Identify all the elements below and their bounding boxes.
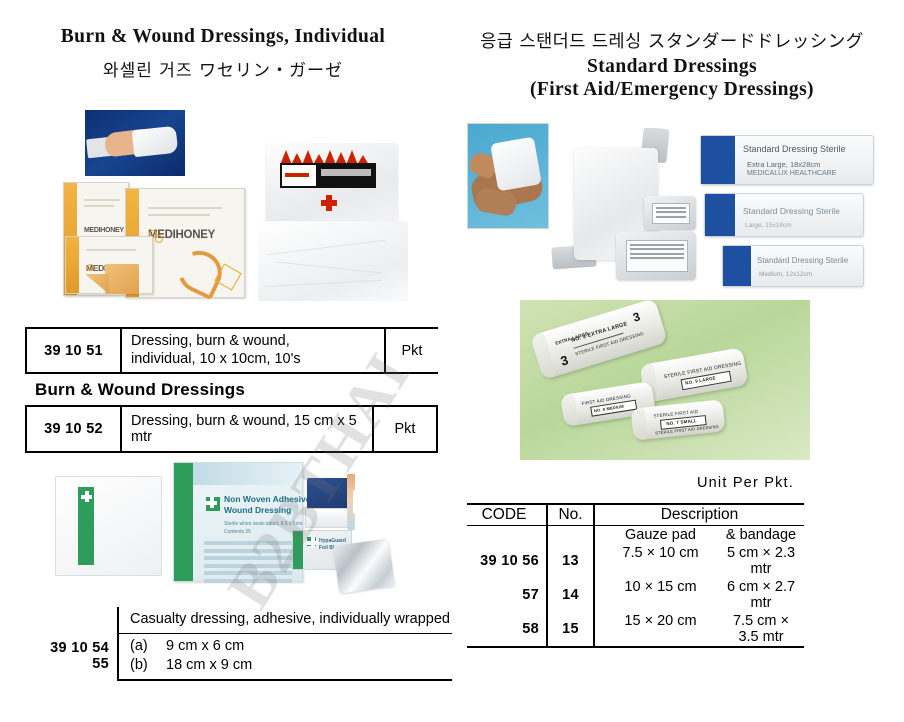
cell-no-empty	[547, 526, 594, 545]
burn-sheet-label	[280, 163, 376, 188]
table-row: 39 10 56 13 7.5 × 10 cm 5 cm × 2.3 mtr	[467, 544, 804, 578]
white-cross-icon	[731, 259, 743, 271]
code-primary: 39 10 54	[27, 640, 109, 656]
box-green-side	[174, 463, 193, 581]
green-cross-icon	[307, 537, 316, 546]
blue-box-base	[305, 508, 353, 528]
cell-bandage-size: 5 cm × 2.3 mtr	[722, 545, 800, 577]
cell-unit: Pkt	[373, 406, 437, 452]
section-band-burn-wound: Burn & Wound Dressings	[25, 375, 438, 404]
green-cross-icon	[81, 491, 92, 502]
dressing-pad	[353, 490, 355, 514]
adhesive-dressing-item	[347, 474, 355, 530]
left-table-primary: 39 10 51 Dressing, burn & wound, individ…	[25, 327, 438, 374]
cell-description: Dressing, burn & wound, individual, 10 x…	[121, 328, 385, 373]
box-green-side	[293, 531, 303, 569]
pack-title: Standard Dressing Sterile	[743, 144, 846, 154]
subheader-bandage: & bandage	[722, 527, 800, 543]
table-row: 39 10 51 Dressing, burn & wound, individ…	[26, 328, 438, 373]
first-aid-dressing-rolls-photo: 3 3 NO. 3 EXTRA LARGE EXTRA LARGE STERIL…	[520, 300, 810, 460]
right-column-title-secondary: (First Aid/Emergency Dressings)	[450, 79, 894, 101]
non-woven-title-line1: Non Woven Adhesive	[224, 495, 316, 505]
description-line-1: Dressing, burn & wound,	[131, 333, 384, 351]
sachet-large	[616, 232, 696, 280]
gauze-shape	[132, 126, 179, 157]
catalog-page: Burn & Wound Dressings, Individual 와셀린 거…	[0, 0, 904, 722]
cell-gauze-pad-size: 10 × 15 cm	[599, 579, 722, 611]
cell-description: 15 × 20 cm 7.5 cm × 3.5 mtr	[594, 612, 804, 647]
box-top-face	[174, 463, 302, 485]
pack-brand: MEDICALUX HEALTHCARE	[747, 170, 836, 177]
label-white-block	[282, 165, 316, 186]
section-band-label: Burn & Wound Dressings	[35, 380, 245, 400]
pack-title: Standard Dressing Sterile	[757, 256, 848, 265]
variant-row-a: (a)9 cm x 6 cm	[130, 637, 452, 657]
cell-bandage-size: 6 cm × 2.7 mtr	[722, 579, 800, 611]
table-header-row: CODE No. Description	[467, 504, 804, 526]
sachet-window	[652, 203, 690, 224]
header-code: CODE	[467, 504, 547, 526]
header-no: No.	[547, 504, 594, 526]
roll-end-cap	[631, 407, 648, 440]
non-woven-box: Non Woven Adhesive Wound Dressing Steril…	[173, 462, 303, 582]
roll-end-cap	[530, 332, 557, 380]
standard-dressing-pad-photo	[546, 128, 698, 298]
cell-header-description: Casualty dressing, adhesive, individuall…	[118, 607, 452, 633]
flat-dressing-pack	[55, 476, 162, 576]
description-line-2: individual, 10 x 10cm, 10's	[131, 351, 384, 369]
bandaged-leg-photo	[467, 123, 549, 229]
cell-no: 15	[547, 612, 594, 647]
pack-size: Large, 15x18cm	[745, 222, 792, 229]
burn-sheet-folded	[258, 221, 408, 301]
sterile-pack-medium: Standard Dressing Sterile Medium, 12x12c…	[722, 245, 864, 287]
hypaguard-foil-blanket-photo: HypaGuard Foil Blanket	[292, 528, 412, 598]
cell-no: 14	[547, 578, 594, 612]
right-column-title: Standard Dressings	[450, 56, 894, 78]
cell-code: 57	[467, 578, 547, 612]
roll-end-cap	[560, 393, 579, 427]
pack-size: Medium, 12x12cm	[759, 271, 812, 278]
cell-no: 13	[547, 544, 594, 578]
unit-per-packet-note: Unit Per Pkt.	[697, 475, 794, 491]
table-header-row: Casualty dressing, adhesive, individuall…	[25, 607, 452, 633]
cell-description: 10 × 15 cm 6 cm × 2.7 mtr	[594, 578, 804, 612]
cell-code-empty	[25, 607, 118, 633]
table-row: 39 10 52 Dressing, burn & wound, 15 cm x…	[26, 406, 437, 452]
cell-description: Dressing, burn & wound, 15 cm x 5 mtr	[121, 406, 373, 452]
feature-bullet-list	[204, 541, 292, 586]
right-column-subtitle-cjk: 응급 스탠더드 드레싱 スタンダードドレッシング	[450, 28, 894, 53]
table-subheader-row: Gauze pad & bandage	[467, 526, 804, 545]
cell-unit: Pkt	[385, 328, 438, 373]
pack-size: Extra Large, 18x28cm	[747, 160, 820, 169]
left-table-casualty: Casualty dressing, adhesive, individuall…	[25, 607, 452, 681]
label-brand-text	[321, 169, 371, 176]
white-cross-icon	[714, 208, 727, 221]
code-secondary: 55	[27, 656, 109, 672]
non-woven-subtitle: Sterile when seals intact, 8.6 x 6cm	[224, 521, 316, 528]
bandage-wrap-shape	[490, 137, 542, 192]
roll-number-secondary: 3	[631, 309, 641, 324]
burn-sheet-pouch	[266, 143, 398, 233]
cell-code: 39 10 54 55	[25, 633, 118, 680]
cell-bandage-size: 7.5 cm × 3.5 mtr	[722, 613, 800, 645]
foil-blanket	[333, 538, 395, 593]
subheader-gauze-pad: Gauze pad	[599, 527, 722, 543]
red-cross-icon	[321, 195, 337, 211]
green-cross-icon	[206, 497, 220, 511]
sachet-small	[644, 196, 696, 230]
sachet-window	[626, 240, 688, 272]
pack-title: Standard Dressing Sterile	[743, 206, 840, 216]
cell-code-empty	[467, 526, 547, 545]
table-row: 58 15 15 × 20 cm 7.5 cm × 3.5 mtr	[467, 612, 804, 647]
sterile-dressing-packs-photo: Standard Dressing Sterile Extra Large, 1…	[700, 135, 880, 295]
left-column-title: Burn & Wound Dressings, Individual	[18, 26, 428, 48]
medihoney-product-photo: MEDIHONEY MEDIHONEY MEDIHONEY	[45, 178, 250, 303]
roll-large: STERILE FIRST AID DRESSING NO. 9 LARGE	[639, 347, 748, 402]
sterile-pack-large: Standard Dressing Sterile Large, 15x18cm	[704, 193, 864, 237]
cell-code: 58	[467, 612, 547, 647]
table-row: 57 14 10 × 15 cm 6 cm × 2.7 mtr	[467, 578, 804, 612]
left-column-subtitle-cjk: 와셀린 거즈 ワセリン・ガーゼ	[18, 56, 428, 81]
white-cross-icon	[712, 152, 726, 166]
variant-label-b: (b)	[130, 656, 166, 676]
cell-subheader: Gauze pad & bandage	[594, 526, 804, 545]
roehampton-burn-sheet-photo	[258, 143, 408, 301]
non-woven-title-line2: Wound Dressing	[224, 506, 316, 516]
header-description: Description	[594, 504, 804, 526]
variant-row-b: (b)18 cm x 9 cm	[130, 656, 452, 676]
cell-code: 39 10 56	[467, 544, 547, 578]
cell-gauze-pad-size: 15 × 20 cm	[599, 613, 722, 645]
cell-code: 39 10 52	[26, 406, 121, 452]
sterile-pack-extra-large: Standard Dressing Sterile Extra Large, 1…	[700, 135, 874, 185]
variant-label-a: (a)	[130, 637, 166, 657]
honey-dressing-pad	[105, 264, 139, 294]
cell-description: (a)9 cm x 6 cm (b)18 cm x 9 cm	[118, 633, 452, 680]
right-table-gauze-bandage: CODE No. Description Gauze pad & bandage…	[467, 503, 804, 648]
roll-number: 3	[559, 352, 570, 368]
hand-gauze-photo	[85, 110, 185, 176]
hypaguard-label-line1: HypaGuard	[319, 538, 346, 545]
box-spine	[66, 237, 79, 293]
variant-size-b: 18 cm x 9 cm	[166, 657, 252, 673]
variant-size-a: 9 cm x 6 cm	[166, 638, 244, 654]
table-row: 39 10 54 55 (a)9 cm x 6 cm (b)18 cm x 9 …	[25, 633, 452, 680]
cell-gauze-pad-size: 7.5 × 10 cm	[599, 545, 722, 577]
cell-description: 7.5 × 10 cm 5 cm × 2.3 mtr	[594, 544, 804, 578]
cell-code: 39 10 51	[26, 328, 121, 373]
left-table-secondary: 39 10 52 Dressing, burn & wound, 15 cm x…	[25, 405, 438, 453]
